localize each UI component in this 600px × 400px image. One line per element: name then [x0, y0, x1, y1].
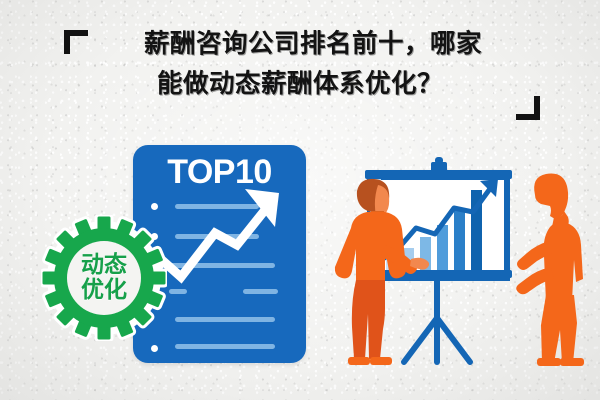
presentation-scene	[320, 155, 585, 370]
chart-bar	[454, 208, 465, 270]
headline-line-2: 能做动态薪酬体系优化？	[0, 64, 600, 104]
gear-label-line-2: 优化	[81, 278, 127, 303]
gear-label-line-1: 动态	[81, 253, 127, 278]
easel-tripod-icon	[404, 275, 470, 362]
gear-badge-label: 动态 优化	[41, 215, 167, 341]
poster-canvas: 薪酬咨询公司排名前十，哪家 能做动态薪酬体系优化？ TOP10	[0, 0, 600, 400]
headline-line-1: 薪酬咨询公司排名前十，哪家	[0, 24, 600, 64]
document-line	[175, 344, 275, 349]
headline: 薪酬咨询公司排名前十，哪家 能做动态薪酬体系优化？	[0, 24, 600, 104]
list-bullet-icon	[151, 345, 158, 352]
female-presenter-figure	[516, 174, 584, 367]
document-line	[175, 317, 275, 322]
